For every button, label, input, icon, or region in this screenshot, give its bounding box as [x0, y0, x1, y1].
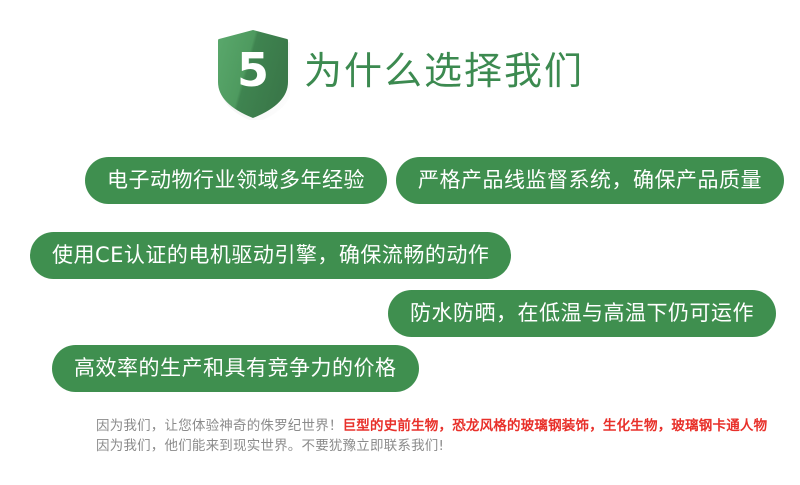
feature-pill-1: 电子动物行业领域多年经验 — [85, 157, 387, 204]
feature-pill-5: 高效率的生产和具有竞争力的价格 — [52, 345, 419, 392]
feature-pill-4: 防水防晒，在低温与高温下仍可运作 — [388, 290, 776, 337]
footer-text: 因为我们，让您体验神奇的侏罗纪世界！巨型的史前生物，恐龙风格的玻璃钢装饰，生化生… — [96, 416, 756, 456]
badge-number: 5 — [216, 28, 290, 120]
footer-line-1: 因为我们，让您体验神奇的侏罗纪世界！巨型的史前生物，恐龙风格的玻璃钢装饰，生化生… — [96, 416, 756, 436]
footer-line-1-prefix: 因为我们，让您体验神奇的侏罗纪世界！ — [96, 418, 343, 434]
shield-badge: 5 — [216, 28, 290, 120]
feature-pill-3: 使用CE认证的电机驱动引擎，确保流畅的动作 — [30, 232, 511, 279]
page-title: 为什么选择我们 — [304, 52, 584, 96]
page-header: 5 为什么选择我们 — [0, 24, 800, 124]
footer-line-1-emphasis: 巨型的史前生物，恐龙风格的玻璃钢装饰，生化生物，玻璃钢卡通人物 — [343, 418, 768, 434]
footer-line-2: 因为我们，他们能来到现实世界。不要犹豫立即联系我们! — [96, 436, 756, 456]
feature-pill-2: 严格产品线监督系统，确保产品质量 — [396, 157, 784, 204]
